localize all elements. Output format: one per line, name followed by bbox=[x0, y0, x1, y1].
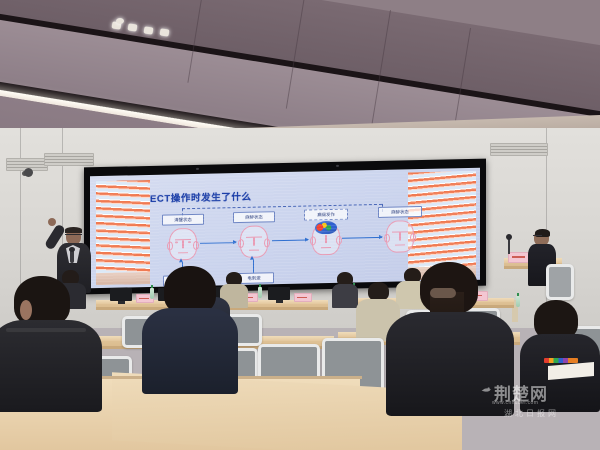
bird-logo-icon bbox=[480, 383, 494, 396]
presenter-raised-hand bbox=[48, 218, 56, 226]
ceiling-spotlight-3 bbox=[144, 26, 154, 34]
name-card-4 bbox=[294, 293, 312, 302]
screen-bezel-dot-2 bbox=[336, 165, 339, 167]
front-left-ear bbox=[20, 300, 32, 320]
photo-canvas: ECT操作时发生了什么 清醒状态 麻醉状态 癫痫发作 麻醉状态 bbox=[0, 0, 600, 450]
desk-monitor-4 bbox=[268, 287, 290, 300]
moderator-glasses bbox=[533, 235, 542, 240]
moderator-mic-stand bbox=[508, 238, 510, 254]
front-left-jacket bbox=[0, 320, 102, 412]
watermark-url-text: www.cnhubei.com bbox=[492, 400, 538, 406]
air-vent-right bbox=[490, 143, 548, 156]
air-vent-center-left bbox=[44, 153, 94, 166]
front-center-head bbox=[164, 266, 216, 314]
audience-person-front-center bbox=[142, 266, 238, 392]
audience-body-far-3 bbox=[332, 284, 358, 308]
watermark: 荆楚网 www.cnhubei.com 湖北日报网 bbox=[480, 380, 592, 422]
audience-person-front-left bbox=[0, 276, 102, 408]
microphone-head bbox=[69, 247, 75, 252]
moderator-mic-head bbox=[506, 234, 512, 240]
moderator-chair-back bbox=[546, 264, 574, 300]
desk-monitor-1 bbox=[110, 288, 132, 301]
water-bottle-3 bbox=[258, 287, 262, 298]
presenter-hair bbox=[65, 227, 82, 233]
front-left-jacket-seam bbox=[6, 328, 86, 332]
security-camera bbox=[24, 168, 33, 177]
smoke-detector bbox=[116, 18, 124, 24]
colored-pens bbox=[544, 358, 578, 363]
ceiling-spotlight-2 bbox=[128, 23, 138, 31]
audience-person-far-3 bbox=[332, 272, 358, 306]
front-right-hair-tie bbox=[430, 288, 456, 298]
moderator-chair bbox=[546, 264, 568, 294]
front-center-jacket bbox=[142, 308, 238, 394]
watermark-sub-text: 湖北日报网 bbox=[504, 408, 559, 419]
screen-bezel-dot-1 bbox=[196, 168, 199, 170]
ceiling-spotlight-4 bbox=[160, 28, 170, 36]
presenter-glasses bbox=[65, 234, 82, 239]
